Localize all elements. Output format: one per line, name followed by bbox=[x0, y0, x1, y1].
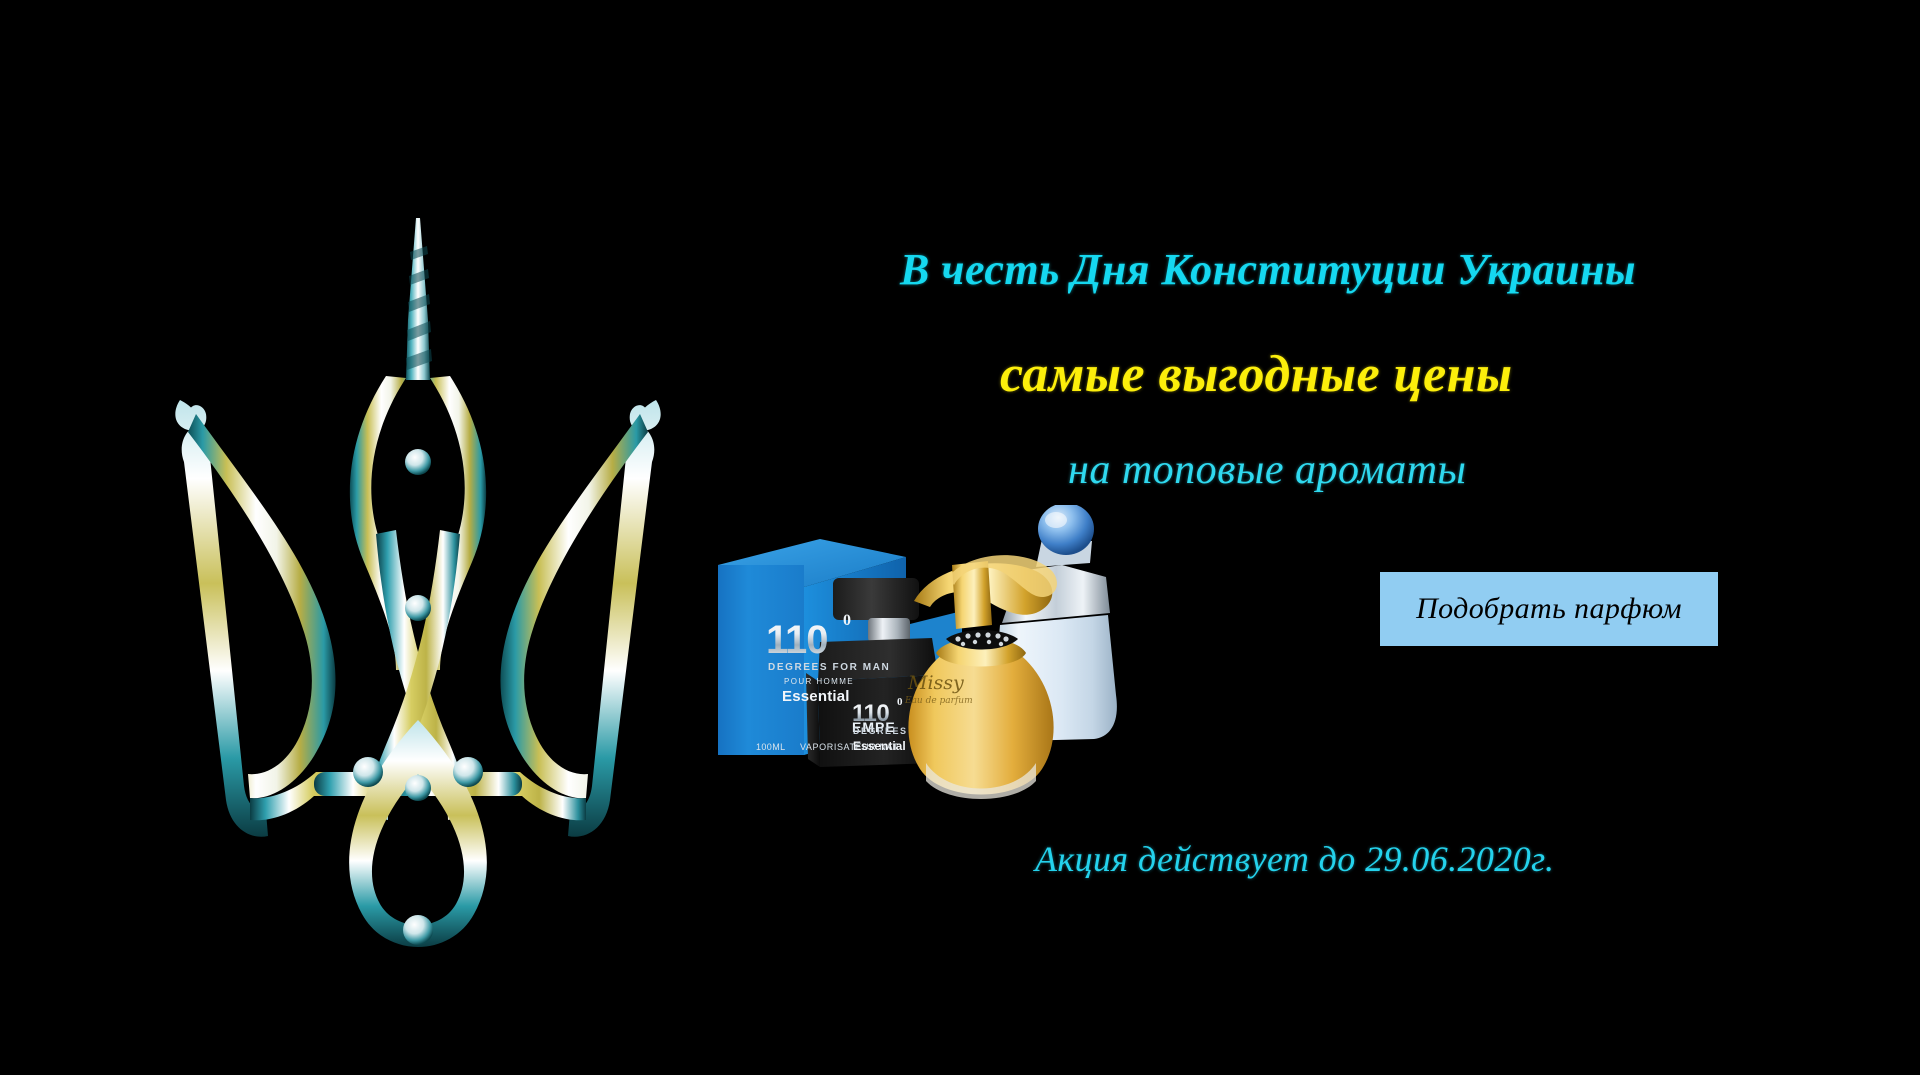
black-bottle-side bbox=[806, 673, 820, 767]
trident-bead-right bbox=[453, 757, 483, 787]
black-bottle-degree-symbol: 0 bbox=[897, 696, 903, 708]
trident-bead-bottom bbox=[403, 915, 433, 945]
promo-valid-until: Акция действует до 29.06.2020г. bbox=[1035, 838, 1554, 880]
trident-bead-top bbox=[405, 449, 431, 475]
trident-bead-center bbox=[405, 775, 431, 801]
ukrainian-trident-emblem bbox=[118, 200, 718, 1020]
select-perfume-button-label: Подобрать парфюм bbox=[1416, 592, 1682, 626]
black-bottle-collar bbox=[868, 618, 910, 642]
promo-headline-line2: самые выгодные цены bbox=[1000, 345, 1513, 404]
black-bottle-shoulder bbox=[818, 638, 938, 681]
blue-box-front-face bbox=[718, 565, 804, 755]
perfume-product-cluster bbox=[700, 505, 1180, 815]
trident-bottom-loop bbox=[349, 720, 487, 947]
silver-bottle-cap-highlight bbox=[1045, 512, 1067, 528]
silver-bottle-blue-cap bbox=[1038, 505, 1094, 555]
trident-bead-middle bbox=[405, 595, 431, 621]
promo-headline-line1: В честь Дня Конституции Украины bbox=[900, 244, 1636, 295]
promo-banner: В честь Дня Конституции Украины самые вы… bbox=[0, 0, 1920, 1075]
trident-bead-left bbox=[353, 757, 383, 787]
promo-headline-line3: на топовые ароматы bbox=[1068, 446, 1466, 494]
select-perfume-button[interactable]: Подобрать парфюм bbox=[1380, 572, 1718, 646]
blue-box-degree-symbol: 0 bbox=[843, 612, 851, 630]
